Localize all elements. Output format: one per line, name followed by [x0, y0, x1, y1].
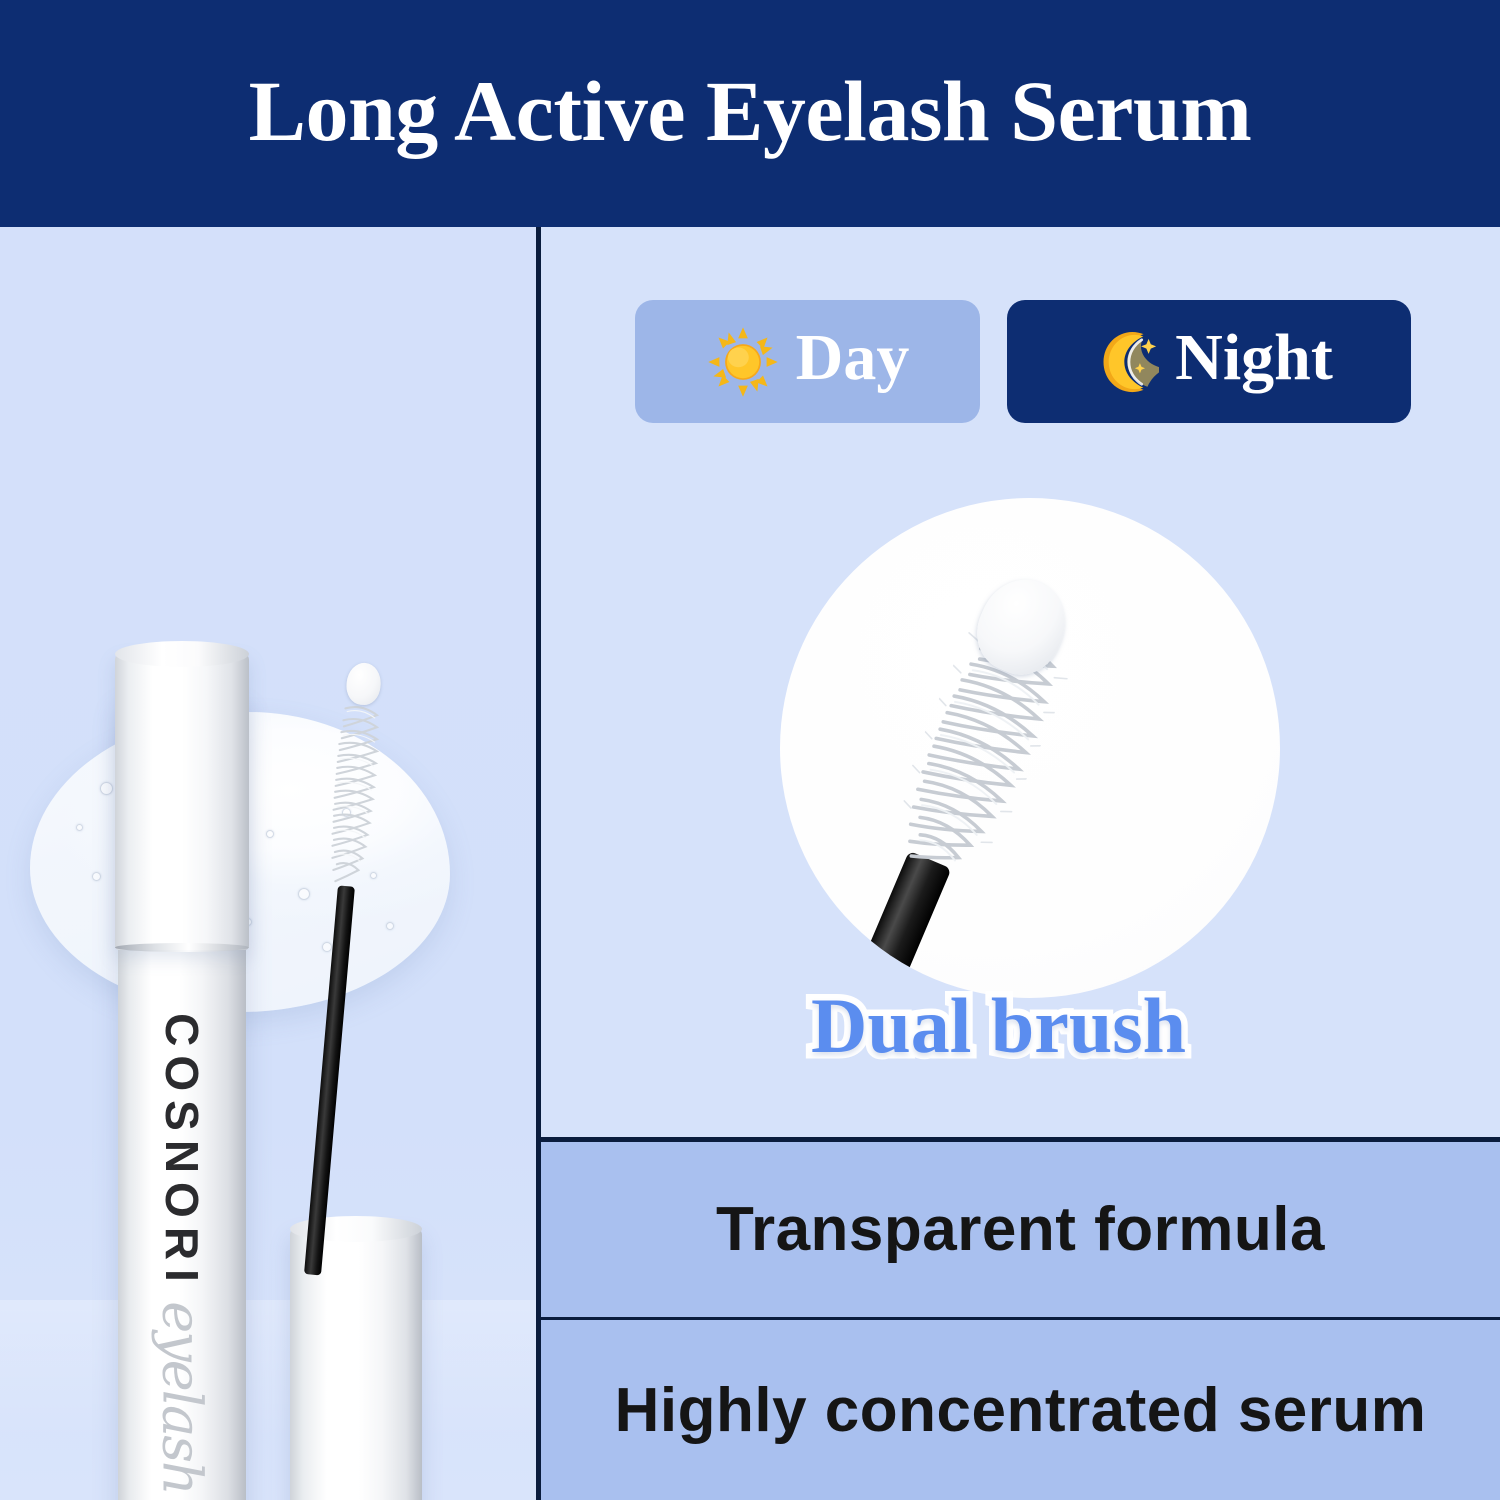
header-banner: Long Active Eyelash Serum — [0, 0, 1500, 227]
tube-cap-seam — [115, 943, 249, 952]
moon-icon — [1085, 325, 1159, 399]
spiral-brush-icon — [321, 700, 386, 898]
feature-panel-concentrated-serum: Highly concentrated serum — [541, 1320, 1500, 1500]
serum-tube-cap — [115, 652, 249, 950]
panel-divider-vertical — [536, 227, 541, 1500]
product-infographic: Long Active Eyelash Serum — [0, 0, 1500, 1500]
toggle-night-label: Night — [1175, 325, 1333, 399]
toggle-day-label: Day — [796, 325, 910, 399]
panel-divider-horizontal-2 — [541, 1317, 1500, 1320]
page-title: Long Active Eyelash Serum — [249, 68, 1252, 160]
usage-panel: Day Night — [541, 227, 1500, 1139]
feature-label-1: Transparent formula — [716, 1194, 1325, 1265]
toggle-day[interactable]: Day — [635, 300, 980, 423]
feature-label-2: Highly concentrated serum — [615, 1375, 1427, 1446]
sun-icon — [706, 325, 780, 399]
brush-closeup-circle — [780, 498, 1280, 998]
feature-panel-transparent-formula: Transparent formula — [541, 1142, 1500, 1317]
toggle-night[interactable]: Night — [1007, 300, 1411, 423]
day-night-toggle-group: Day Night — [635, 300, 1411, 423]
dual-brush-callout: Dual brush — [811, 987, 1186, 1065]
product-photo-panel: COSNORI eyelash — [0, 227, 536, 1500]
flocked-tip — [345, 661, 383, 706]
applicator-wand-closeup — [799, 554, 1108, 998]
panel-divider-horizontal-1 — [541, 1137, 1500, 1142]
reflective-floor — [0, 1300, 536, 1500]
